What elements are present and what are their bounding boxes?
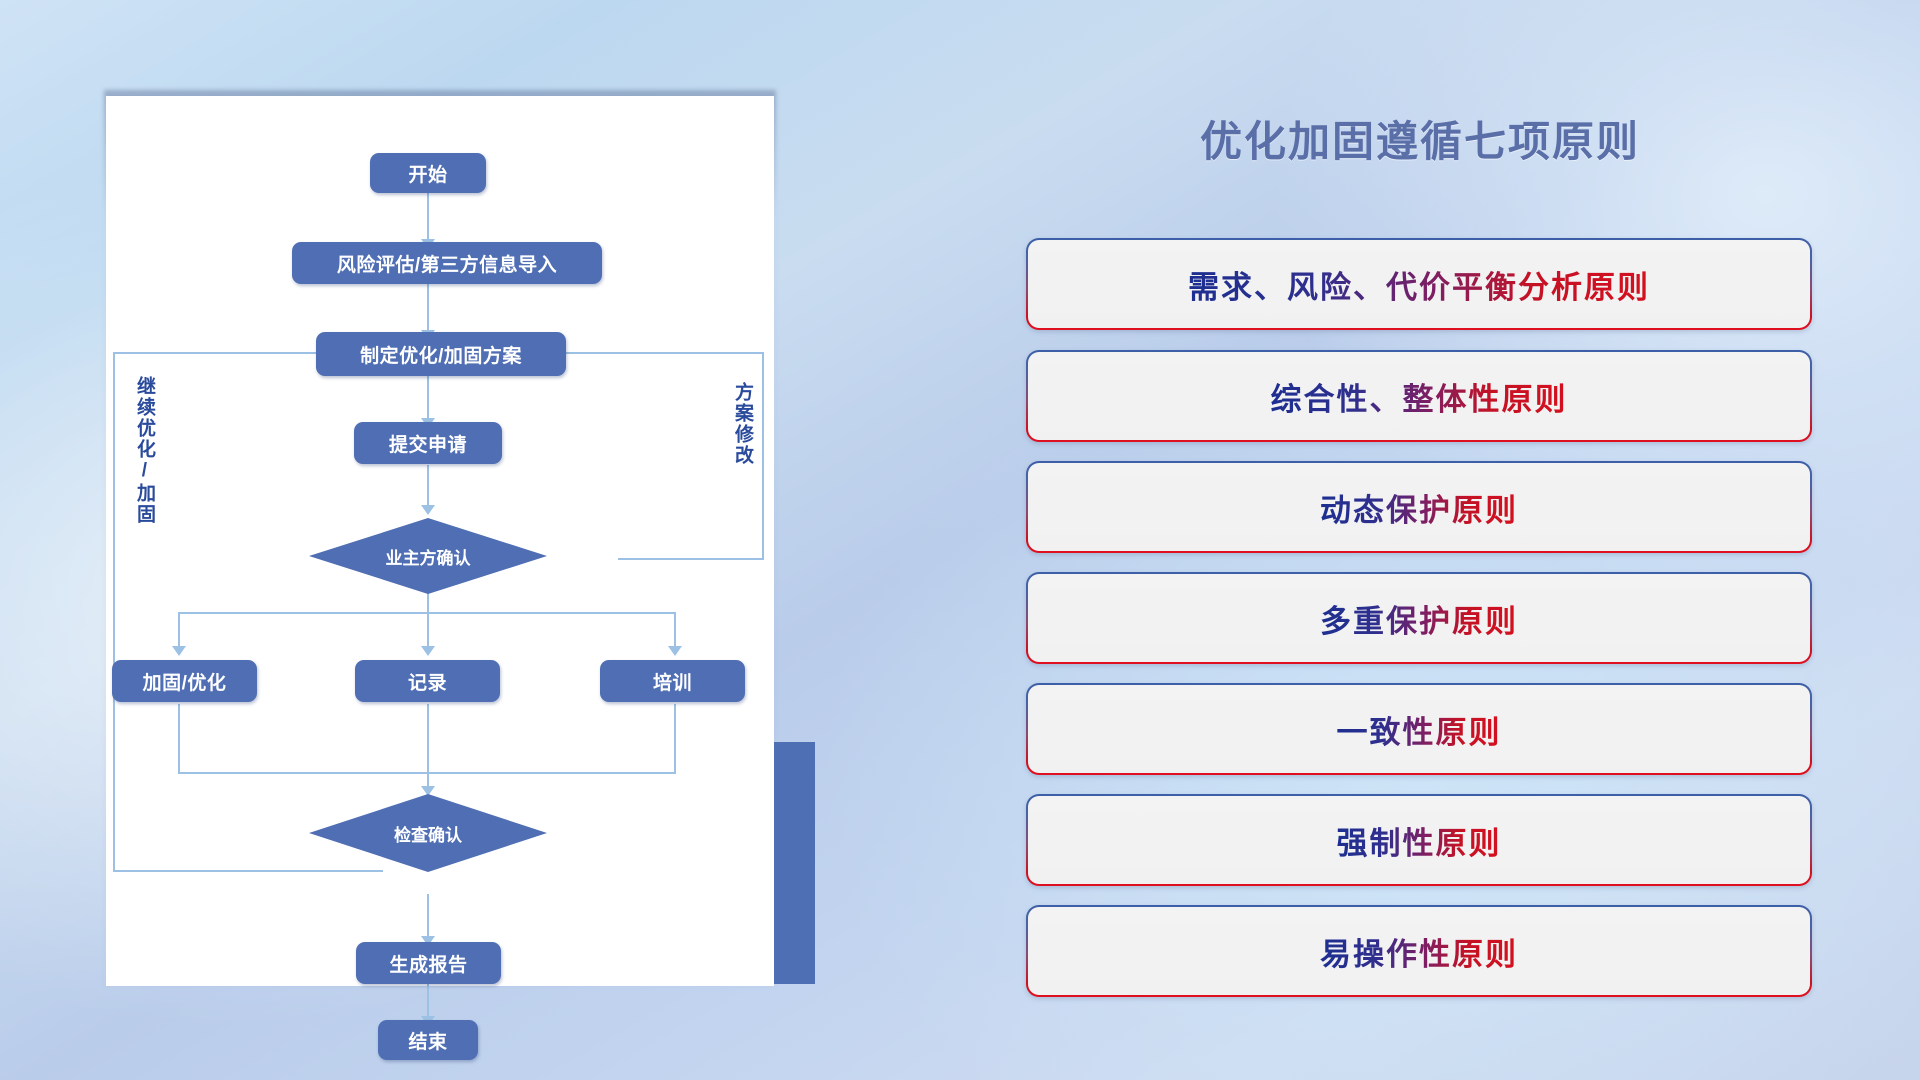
edge-label-right-loop: 方案修改 — [732, 382, 752, 466]
flow-node-check-confirm-label: 检查确认 — [394, 821, 462, 846]
principle-item-5-label: 一致性原则 — [1337, 707, 1502, 752]
edge-branch-left-arrow — [172, 646, 186, 656]
edge-branch-left-drop — [178, 612, 180, 650]
flow-node-end[interactable]: 结束 — [378, 1020, 478, 1060]
flow-node-submit-label: 提交申请 — [389, 430, 467, 457]
principle-item-5[interactable]: 一致性原则 — [1026, 683, 1812, 775]
right-loop-vertical-line — [762, 352, 764, 560]
flow-node-plan-label: 制定优化/加固方案 — [360, 341, 522, 368]
right-loop-bottom-line — [618, 558, 764, 560]
flow-node-end-label: 结束 — [408, 1027, 447, 1054]
edge-owner-branch-bar — [178, 612, 676, 614]
principle-item-2-label: 综合性、整体性原则 — [1271, 374, 1568, 419]
flow-node-start[interactable]: 开始 — [370, 153, 486, 193]
edge-start-to-risk — [427, 191, 429, 243]
edge-merge-right-up — [674, 704, 676, 774]
edge-merge-mid — [427, 704, 429, 792]
flow-node-owner-confirm-label: 业主方确认 — [386, 544, 471, 569]
edge-merge-left-up — [178, 704, 180, 774]
flow-node-submit[interactable]: 提交申请 — [354, 422, 502, 464]
principle-item-3-label: 动态保护原则 — [1320, 485, 1518, 530]
edge-branch-right-arrow — [668, 646, 682, 656]
flowchart-card: 继续优化/加固 方案修改 开始 风险评 — [106, 96, 774, 986]
edge-branch-right-drop — [674, 612, 676, 650]
principle-item-3[interactable]: 动态保护原则 — [1026, 461, 1812, 553]
flow-node-report[interactable]: 生成报告 — [356, 942, 501, 984]
principle-item-7[interactable]: 易操作性原则 — [1026, 905, 1812, 997]
principle-item-1-label: 需求、风险、代价平衡分析原则 — [1188, 262, 1650, 307]
edge-check-to-report — [427, 894, 429, 940]
principles-panel-title: 优化加固遵循七项原则 — [1040, 108, 1800, 169]
left-loop-vertical-line — [113, 352, 115, 872]
flow-node-check-confirm[interactable]: 检查确认 — [309, 794, 547, 872]
flow-node-record[interactable]: 记录 — [355, 660, 500, 702]
flow-node-owner-confirm[interactable]: 业主方确认 — [309, 518, 547, 594]
principle-item-6[interactable]: 强制性原则 — [1026, 794, 1812, 886]
edge-label-left-loop: 继续优化/加固 — [134, 376, 154, 525]
edge-submit-to-owner — [427, 465, 429, 509]
principle-item-6-label: 强制性原则 — [1337, 818, 1502, 863]
flow-node-risk-assessment[interactable]: 风险评估/第三方信息导入 — [292, 242, 602, 284]
principle-item-4[interactable]: 多重保护原则 — [1026, 572, 1812, 664]
principle-item-2[interactable]: 综合性、整体性原则 — [1026, 350, 1812, 442]
edge-risk-to-plan — [427, 282, 429, 334]
flow-node-record-label: 记录 — [408, 668, 447, 695]
principle-item-1[interactable]: 需求、风险、代价平衡分析原则 — [1026, 238, 1812, 330]
principle-item-7-label: 易操作性原则 — [1320, 929, 1518, 974]
slide-canvas: 继续优化/加固 方案修改 开始 风险评 — [0, 0, 1920, 1080]
principle-item-4-label: 多重保护原则 — [1320, 596, 1518, 641]
flow-node-reinforce[interactable]: 加固/优化 — [112, 660, 257, 702]
flow-node-report-label: 生成报告 — [389, 950, 467, 977]
flow-node-reinforce-label: 加固/优化 — [143, 668, 227, 695]
edge-plan-to-submit — [427, 376, 429, 422]
edge-branch-mid-arrow — [421, 646, 435, 656]
edge-report-to-end — [427, 984, 429, 1020]
left-loop-bottom-line — [113, 870, 383, 872]
edge-owner-down — [427, 593, 429, 653]
flow-node-start-label: 开始 — [408, 160, 447, 187]
flow-node-training[interactable]: 培训 — [600, 660, 745, 702]
edge-submit-to-owner-arrow — [421, 505, 435, 515]
flow-node-risk-assessment-label: 风险评估/第三方信息导入 — [337, 250, 557, 277]
flow-node-plan[interactable]: 制定优化/加固方案 — [316, 332, 566, 376]
flow-node-training-label: 培训 — [653, 668, 692, 695]
